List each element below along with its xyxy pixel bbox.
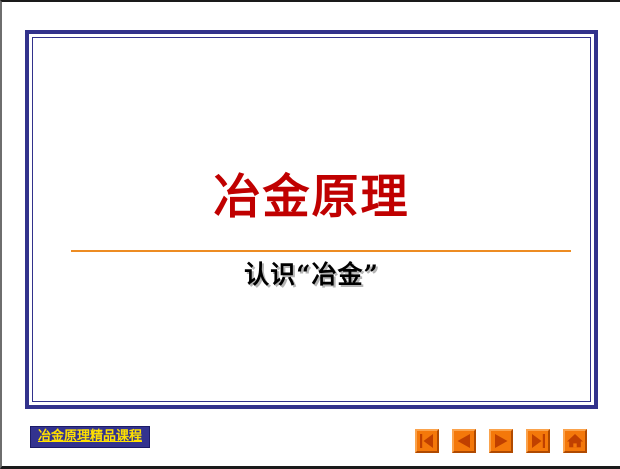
title-block: 冶金原理 bbox=[33, 174, 590, 221]
course-home-link[interactable]: 冶金原理精品课程 bbox=[30, 426, 150, 448]
home-icon bbox=[565, 431, 585, 451]
page-title: 冶金原理 bbox=[33, 174, 590, 221]
previous-slide-icon bbox=[454, 431, 474, 451]
subtitle-block: 认识“冶金” bbox=[33, 260, 590, 290]
first-slide-button[interactable] bbox=[415, 429, 439, 453]
slide-canvas: 冶金原理 认识“冶金” bbox=[32, 37, 591, 402]
page-subtitle: 认识“冶金” bbox=[33, 260, 590, 290]
last-slide-icon bbox=[528, 431, 548, 451]
next-slide-button[interactable] bbox=[489, 429, 513, 453]
navigation-button-group bbox=[415, 429, 587, 453]
home-button[interactable] bbox=[563, 429, 587, 453]
presentation-page: 冶金原理 认识“冶金” 冶金原理精品课程 bbox=[0, 0, 620, 469]
title-divider-line bbox=[71, 250, 571, 252]
last-slide-button[interactable] bbox=[526, 429, 550, 453]
next-slide-icon bbox=[491, 431, 511, 451]
previous-slide-button[interactable] bbox=[452, 429, 476, 453]
first-slide-icon bbox=[417, 431, 437, 451]
slide-frame: 冶金原理 认识“冶金” bbox=[25, 30, 598, 409]
